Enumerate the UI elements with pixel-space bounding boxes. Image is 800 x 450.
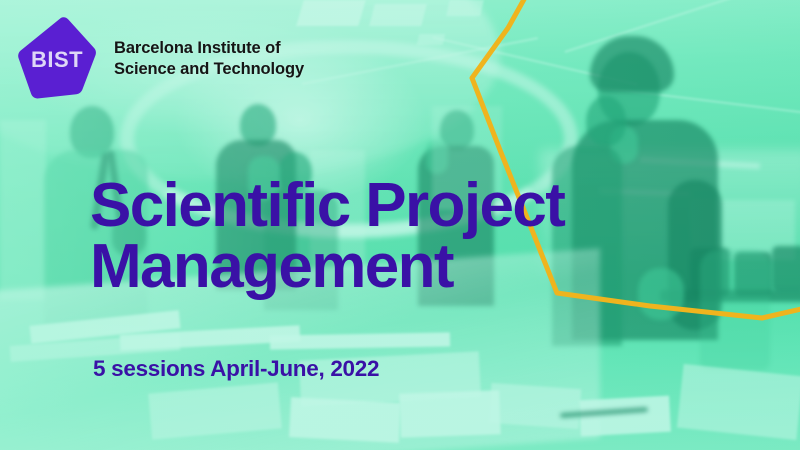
organization-name: Barcelona Institute of Science and Techn…	[114, 38, 304, 80]
bist-course-banner: BIST Barcelona Institute of Science and …	[0, 0, 800, 450]
hexagon-logo-icon[interactable]: BIST	[16, 16, 98, 102]
logo-lockup[interactable]: BIST Barcelona Institute of Science and …	[16, 16, 304, 102]
logo-mark-text: BIST	[31, 49, 83, 71]
session-schedule-subtitle: 5 sessions April-June, 2022	[93, 356, 379, 382]
page-title: Scientific Project Management	[90, 176, 564, 298]
